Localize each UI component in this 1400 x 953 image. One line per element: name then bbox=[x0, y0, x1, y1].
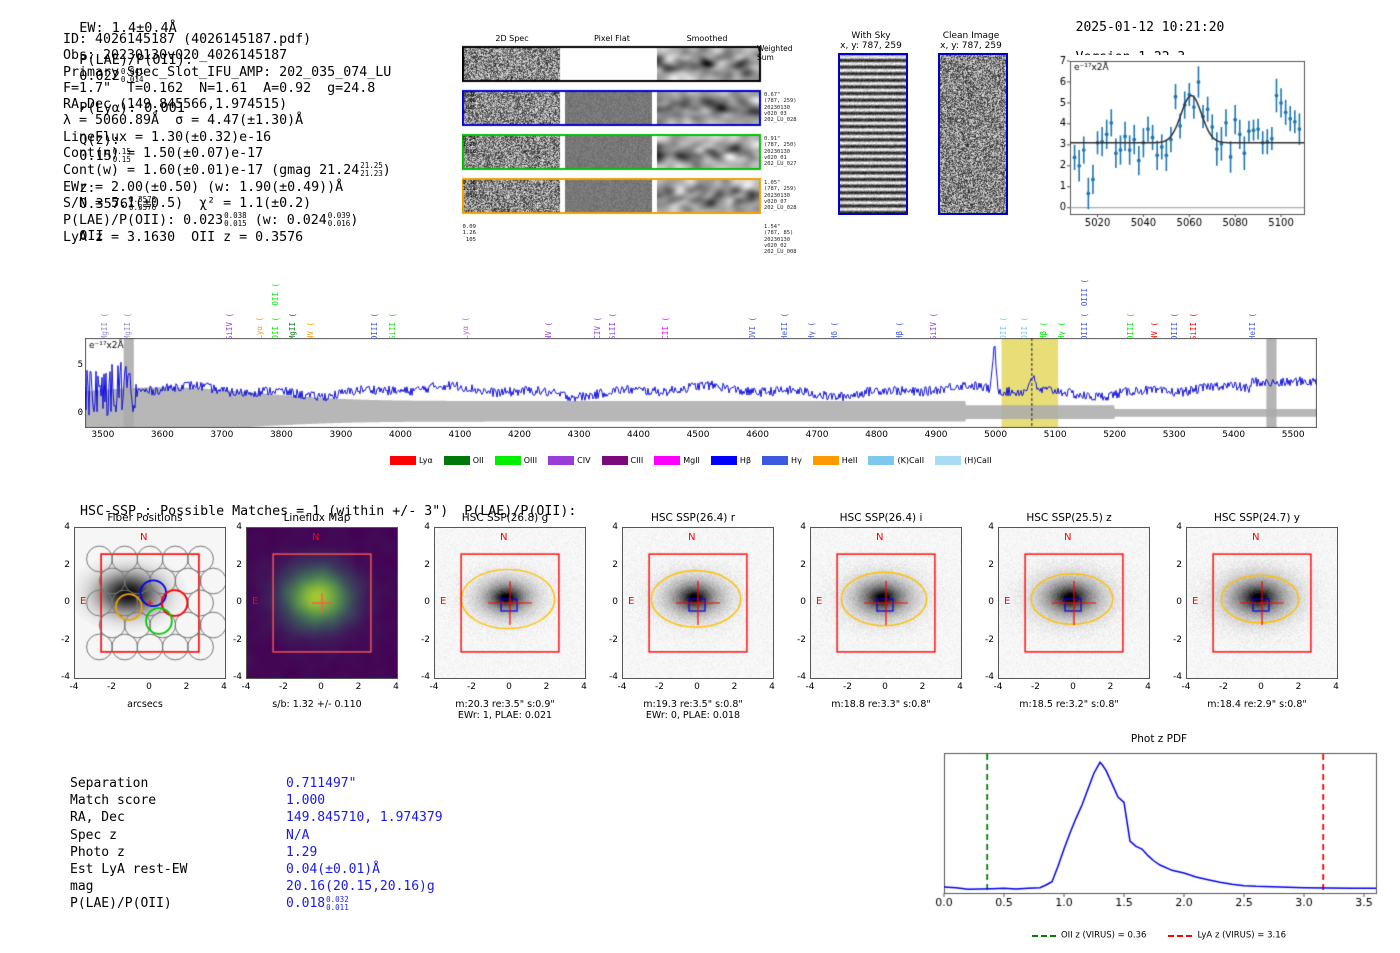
compass-north-label: N bbox=[140, 532, 147, 543]
emission-line-label: OII ( bbox=[1020, 317, 1029, 340]
cutout-y-tick: 4 bbox=[50, 522, 70, 532]
emission-line-label: OIII ( bbox=[1126, 313, 1135, 340]
cutout-x-tick: -2 bbox=[834, 682, 862, 692]
match-table-row: P(LAE)/P(OII)0.0180.0320.011 bbox=[70, 895, 443, 912]
timestamp: 2025-01-12 10:21:20 bbox=[1076, 20, 1225, 35]
cutout-x-tick: 0 bbox=[495, 682, 523, 692]
spectrum-x-tick: 4400 bbox=[613, 430, 665, 440]
cutout-y-tick: 2 bbox=[410, 560, 430, 570]
cutout-image[interactable] bbox=[1186, 527, 1338, 679]
phot-z-legend-label: LyA z (VIRUS) = 3.16 bbox=[1197, 931, 1286, 941]
legend-swatch bbox=[444, 456, 470, 465]
clean-image-subtitle: x, y: 787, 259 bbox=[926, 41, 1016, 51]
emission-line-label: OII ( bbox=[271, 317, 280, 340]
cutout-y-ticks: -4-2024 bbox=[50, 528, 72, 678]
info-line-ewr: EWr = 2.00(±0.50) (w: 1.90(±0.49))Å bbox=[63, 180, 391, 196]
cutout-panel[interactable]: Lineflux Map-4-2024-4-2024s/b: 1.32 +/- … bbox=[232, 512, 402, 710]
cutout-x-tick: -4 bbox=[60, 682, 88, 692]
legend-swatch bbox=[813, 456, 839, 465]
cutout-y-tick: -2 bbox=[1162, 635, 1182, 645]
match-table-row: Photo z1.29 bbox=[70, 844, 443, 861]
cutout-y-ticks: -4-2024 bbox=[974, 528, 996, 678]
source-info-block: ID: 4026145187 (4026145187.pdf) Obs: 202… bbox=[63, 32, 391, 246]
emission-line-label: OIII ( bbox=[1080, 313, 1089, 340]
emission-line-label: HeII ( bbox=[1248, 313, 1257, 340]
cutout-x-tick: -2 bbox=[270, 682, 298, 692]
cutout-caption-primary: m:18.5 re:3.2" s:0.8" bbox=[984, 699, 1154, 710]
spectrum-x-tick: 3500 bbox=[77, 430, 129, 440]
spectrum-x-tick: 4000 bbox=[374, 430, 426, 440]
spectrum-legend: LyαOIIOIIICIVCIIIMgIIHβHγHeII(K)CaII(H)C… bbox=[390, 450, 1030, 469]
info-line-contn: Cont(n) = 1.50(±0.07)e-17 bbox=[63, 146, 391, 162]
legend-swatch bbox=[548, 456, 574, 465]
cutout-x-tick: -4 bbox=[420, 682, 448, 692]
cutout-x-tick: -2 bbox=[646, 682, 674, 692]
legend-label: Hβ bbox=[740, 456, 751, 465]
spectrum-x-tick: 4300 bbox=[553, 430, 605, 440]
line-fit-canvas bbox=[1040, 55, 1310, 240]
cutout-panel-row: Fiber Positions-4-2024-4-2024arcsecsNELi… bbox=[0, 512, 1400, 727]
compass-east-label: E bbox=[252, 596, 258, 607]
cutout-x-tick: 2 bbox=[345, 682, 373, 692]
legend-swatch bbox=[935, 456, 961, 465]
cutout-title: HSC SSP(26.4) r bbox=[608, 512, 778, 524]
cutout-x-tick: 4 bbox=[946, 682, 974, 692]
match-table-key: RA, Dec bbox=[70, 809, 286, 826]
legend-swatch bbox=[602, 456, 628, 465]
info-line-redshifts: LyA z = 3.1630 OII z = 0.3576 bbox=[63, 230, 391, 246]
compass-north-label: N bbox=[312, 532, 319, 543]
cutout-y-tick: 0 bbox=[50, 597, 70, 607]
cutout-y-ticks: -4-2024 bbox=[1162, 528, 1184, 678]
cutout-y-tick: -4 bbox=[786, 672, 806, 682]
cutout-title: HSC SSP(25.5) z bbox=[984, 512, 1154, 524]
spectrum-x-tick: 4500 bbox=[672, 430, 724, 440]
cutout-image[interactable] bbox=[810, 527, 962, 679]
spectrum-y-axis-ticks: 05 bbox=[63, 338, 83, 428]
match-detail-table: Separation0.711497"Match score1.000RA, D… bbox=[70, 775, 443, 913]
cutout-x-tick: 4 bbox=[758, 682, 786, 692]
match-table-value: 0.018 bbox=[286, 896, 325, 911]
info-line-lineflux: LineFlux = 1.30(±0.32)e-16 bbox=[63, 130, 391, 146]
cutout-x-tick: 4 bbox=[570, 682, 598, 692]
spec2d-block: 2D Spec Pixel Flat Smoothed bbox=[462, 34, 762, 250]
spectrum-x-tick: 3800 bbox=[255, 430, 307, 440]
cutout-y-tick: 4 bbox=[598, 522, 618, 532]
cutout-x-tick: -4 bbox=[984, 682, 1012, 692]
cutout-title: Fiber Positions bbox=[60, 512, 230, 524]
cutout-image[interactable] bbox=[998, 527, 1150, 679]
legend-label: OII bbox=[473, 456, 484, 465]
cutout-y-tick: -4 bbox=[1162, 672, 1182, 682]
cutout-y-tick: -4 bbox=[598, 672, 618, 682]
cutout-y-tick: -4 bbox=[222, 672, 242, 682]
emission-line-label: Lyα ( bbox=[461, 317, 470, 340]
match-table-value: 1.29 bbox=[286, 845, 317, 860]
compass-north-label: N bbox=[1252, 532, 1259, 543]
info-line-lambda: λ = 5060.89Å σ = 4.47(±1.30)Å bbox=[63, 113, 391, 129]
spectrum-x-tick: 5000 bbox=[970, 430, 1022, 440]
match-table-key: Est LyA rest-EW bbox=[70, 861, 286, 878]
emission-line-label: Lyα ( bbox=[255, 317, 264, 340]
with-sky-panel: With Sky x, y: 787, 259 bbox=[826, 31, 916, 219]
legend-label: (H)CaII bbox=[964, 456, 991, 465]
spec2d-row-right-label: 1.54"(787, 85)20230130v020_02202_LU_008 bbox=[764, 224, 812, 255]
emission-line-label: SiIV ( bbox=[225, 313, 234, 340]
cutout-x-tick: 4 bbox=[382, 682, 410, 692]
cutout-x-tick: 2 bbox=[1285, 682, 1313, 692]
match-table-key: P(LAE)/P(OII) bbox=[70, 895, 286, 912]
cutout-image[interactable] bbox=[622, 527, 774, 679]
weighted-sum-label: WeightedSum bbox=[757, 44, 793, 62]
full-spectrum-canvas bbox=[85, 338, 1317, 428]
cutout-x-tick: 0 bbox=[1059, 682, 1087, 692]
emission-line-label: CIV ( bbox=[593, 317, 602, 340]
cutout-panel[interactable]: Fiber Positions-4-2024-4-2024arcsecsNE bbox=[60, 512, 230, 710]
legend-label: Lyα bbox=[419, 456, 433, 465]
cutout-y-tick: -2 bbox=[50, 635, 70, 645]
cutout-caption-secondary: EWr: 0, PLAE: 0.018 bbox=[608, 710, 778, 721]
cutout-x-tick: -2 bbox=[1022, 682, 1050, 692]
compass-north-label: N bbox=[500, 532, 507, 543]
emission-line-label: MgII ( bbox=[288, 313, 297, 340]
line-fit-plot bbox=[1040, 55, 1310, 240]
info-line-radec: RA,Dec (149.845566,1.974515) bbox=[63, 97, 391, 113]
spectrum-x-tick: 3700 bbox=[196, 430, 248, 440]
info-plae-errors: 0.0380.015 bbox=[224, 212, 247, 228]
legend-label: CIV bbox=[577, 456, 590, 465]
spectrum-x-tick: 4200 bbox=[493, 430, 545, 440]
cutout-y-tick: -2 bbox=[786, 635, 806, 645]
spec2d-row-left-label: 0.261.05085 bbox=[452, 92, 476, 111]
cutout-y-tick: -4 bbox=[410, 672, 430, 682]
cutout-x-tick: 2 bbox=[721, 682, 749, 692]
phot-z-pdf-plot: Phot z PDF OII z (VIRUS) = 0.36LyA z (VI… bbox=[928, 733, 1390, 948]
cutout-y-tick: 0 bbox=[222, 597, 242, 607]
cutout-x-tick: 0 bbox=[871, 682, 899, 692]
compass-east-label: E bbox=[1192, 596, 1198, 607]
cutout-x-tick: 0 bbox=[307, 682, 335, 692]
cutout-image[interactable] bbox=[246, 527, 398, 679]
emission-line-label: OVI ( bbox=[748, 317, 757, 340]
info-line-sn: S/N = 5.1(±0.5) χ² = 1.1(±0.2) bbox=[63, 196, 391, 212]
cutout-x-tick: -4 bbox=[232, 682, 260, 692]
cutout-y-tick: 2 bbox=[786, 560, 806, 570]
with-sky-title: With Sky bbox=[826, 31, 916, 41]
spec2d-col-title-pixelflat: Pixel Flat bbox=[562, 34, 662, 43]
legend-label: OIII bbox=[524, 456, 537, 465]
emission-line-labels: MgII (MgII (SiIV (Lyα (OII (OII (MgII (N… bbox=[85, 272, 1317, 340]
cutout-y-tick: 0 bbox=[598, 597, 618, 607]
cutout-y-tick: 4 bbox=[786, 522, 806, 532]
cutout-x-tick: -2 bbox=[98, 682, 126, 692]
cutout-x-tick: 0 bbox=[683, 682, 711, 692]
legend-swatch bbox=[711, 456, 737, 465]
compass-east-label: E bbox=[816, 596, 822, 607]
emission-line-label: SiII ( bbox=[608, 313, 617, 340]
emission-line-label: SiIV ( bbox=[929, 313, 938, 340]
cutout-title: HSC SSP(24.7) y bbox=[1172, 512, 1342, 524]
cutout-y-ticks: -4-2024 bbox=[598, 528, 620, 678]
cutout-caption-primary: m:20.3 re:3.5" s:0.9" bbox=[420, 699, 590, 710]
legend-label: Hγ bbox=[791, 456, 802, 465]
match-table-key: Spec z bbox=[70, 827, 286, 844]
cutout-x-tick: -4 bbox=[1172, 682, 1200, 692]
match-table-value: N/A bbox=[286, 828, 309, 843]
spec2d-row-right-label: 0.91"(787, 250)20230130v020_01202_LU_027 bbox=[764, 136, 812, 167]
cutout-y-tick: -2 bbox=[222, 635, 242, 645]
cutout-y-tick: -4 bbox=[974, 672, 994, 682]
spec2d-row-right-label: 1.05"(787, 259)20230130v020_07202_LU_028 bbox=[764, 180, 812, 211]
cutout-caption-primary: m:18.4 re:2.9" s:0.8" bbox=[1172, 699, 1342, 710]
clean-image-canvas bbox=[938, 53, 1008, 215]
clean-image-panel: Clean Image x, y: 787, 259 bbox=[926, 31, 1016, 219]
spectrum-x-tick: 4600 bbox=[732, 430, 784, 440]
cutout-panel[interactable]: HSC SSP(26.4) i-4-2024-4-2024m:18.8 re:3… bbox=[796, 512, 966, 710]
cutout-caption-primary: m:18.8 re:3.3" s:0.8" bbox=[796, 699, 966, 710]
match-table-value: 0.711497" bbox=[286, 776, 356, 791]
match-table-row: Separation0.711497" bbox=[70, 775, 443, 792]
spectrum-x-tick: 4800 bbox=[851, 430, 903, 440]
cutout-y-tick: -2 bbox=[410, 635, 430, 645]
spec2d-row-left-label: 0.091.26105 bbox=[452, 224, 476, 243]
match-table-value: 149.845710, 1.974379 bbox=[286, 810, 443, 825]
spectrum-y-tick: 0 bbox=[63, 408, 83, 418]
emission-line-label: OIII ( bbox=[1080, 279, 1089, 306]
emission-line-label: OIII ( bbox=[1170, 313, 1179, 340]
cutout-y-tick: 2 bbox=[222, 560, 242, 570]
match-table-key: mag bbox=[70, 878, 286, 895]
match-table-row: Spec zN/A bbox=[70, 827, 443, 844]
spectrum-x-tick: 3600 bbox=[136, 430, 188, 440]
compass-north-label: N bbox=[688, 532, 695, 543]
cutout-caption-primary: s/b: 1.32 +/- 0.110 bbox=[232, 699, 402, 710]
spectrum-x-tick: 4900 bbox=[910, 430, 962, 440]
match-table-row: mag20.16(20.15,20.16)g bbox=[70, 878, 443, 895]
emission-line-label: MgII ( bbox=[123, 313, 132, 340]
legend-swatch bbox=[390, 456, 416, 465]
cutout-x-tick: 2 bbox=[173, 682, 201, 692]
with-sky-subtitle: x, y: 787, 259 bbox=[826, 41, 916, 51]
match-table-key: Photo z bbox=[70, 844, 286, 861]
compass-north-label: N bbox=[1064, 532, 1071, 543]
cutout-x-tick: -4 bbox=[608, 682, 636, 692]
spectrum-x-tick: 3900 bbox=[315, 430, 367, 440]
cutout-y-tick: -2 bbox=[974, 635, 994, 645]
cutout-x-tick: 4 bbox=[1134, 682, 1162, 692]
spec2d-row-left-label: 0.241.28086 bbox=[452, 136, 476, 155]
cutout-y-tick: 2 bbox=[974, 560, 994, 570]
cutout-y-ticks: -4-2024 bbox=[222, 528, 244, 678]
cutout-y-tick: 0 bbox=[786, 597, 806, 607]
match-table-key: Match score bbox=[70, 792, 286, 809]
cutout-y-tick: 2 bbox=[598, 560, 618, 570]
match-table-errors: 0.0320.011 bbox=[326, 896, 349, 912]
spec2d-row-right-label: 0.67"(787, 259)20230130v020_03202_LU_028 bbox=[764, 92, 812, 123]
match-table-key: Separation bbox=[70, 775, 286, 792]
cutout-panel[interactable]: HSC SSP(25.5) z-4-2024-4-2024m:18.5 re:3… bbox=[984, 512, 1154, 710]
cutout-y-tick: 4 bbox=[974, 522, 994, 532]
spectrum-x-tick: 5300 bbox=[1148, 430, 1200, 440]
spectrum-x-tick: 4700 bbox=[791, 430, 843, 440]
phot-z-canvas bbox=[928, 747, 1390, 919]
with-sky-image bbox=[838, 53, 908, 215]
info-line-contw: Cont(w) = 1.60(±0.01)e-17 (gmag 21.2421.… bbox=[63, 162, 391, 179]
spectrum-x-axis-ticks: 3500360037003800390040004100420043004400… bbox=[85, 430, 1317, 444]
match-table-value: 0.04(±0.01)Å bbox=[286, 862, 380, 877]
spectrum-x-tick: 5400 bbox=[1208, 430, 1260, 440]
phot-z-title: Phot z PDF bbox=[928, 733, 1390, 745]
cutout-y-tick: 0 bbox=[410, 597, 430, 607]
legend-label: MgII bbox=[683, 456, 700, 465]
spectrum-x-tick: 5500 bbox=[1267, 430, 1319, 440]
emission-line-label: MgII ( bbox=[100, 313, 109, 340]
cutout-y-tick: 2 bbox=[1162, 560, 1182, 570]
legend-label: CIII bbox=[631, 456, 644, 465]
full-spectrum-plot: MgII (MgII (SiIV (Lyα (OII (OII (MgII (N… bbox=[85, 272, 1317, 472]
info-line-obs: Obs: 20230130v020_4026145187 bbox=[63, 48, 391, 64]
phot-z-legend-swatch bbox=[1032, 935, 1056, 937]
emission-line-label: OIII ( bbox=[370, 313, 379, 340]
cutout-y-tick: -4 bbox=[50, 672, 70, 682]
cutout-x-tick: 2 bbox=[1097, 682, 1125, 692]
emission-line-label: SiII ( bbox=[388, 313, 397, 340]
spectrum-x-tick: 5100 bbox=[1029, 430, 1081, 440]
compass-east-label: E bbox=[440, 596, 446, 607]
match-table-row: Match score1.000 bbox=[70, 792, 443, 809]
legend-swatch bbox=[495, 456, 521, 465]
cutout-x-tick: 2 bbox=[909, 682, 937, 692]
spec2d-row-left-label: 0.161.22085 bbox=[452, 180, 476, 199]
spec2d-canvas bbox=[462, 44, 762, 250]
legend-label: HeII bbox=[842, 456, 858, 465]
cutout-y-ticks: -4-2024 bbox=[786, 528, 808, 678]
cutout-x-tick: 0 bbox=[135, 682, 163, 692]
info-plae-w-errors: 0.0390.016 bbox=[328, 212, 351, 228]
cutout-y-tick: -2 bbox=[598, 635, 618, 645]
match-table-value: 20.16(20.15,20.16)g bbox=[286, 879, 435, 894]
cutout-x-tick: 4 bbox=[1322, 682, 1350, 692]
compass-east-label: E bbox=[80, 596, 86, 607]
info-line-params: F=1.7" T=0.162 N=1.61 A=0.92 g=24.8 bbox=[63, 81, 391, 97]
info-line-id: ID: 4026145187 (4026145187.pdf) bbox=[63, 32, 391, 48]
compass-east-label: E bbox=[628, 596, 634, 607]
cutout-y-ticks: -4-2024 bbox=[410, 528, 432, 678]
phot-z-legend-label: OII z (VIRUS) = 0.36 bbox=[1061, 931, 1147, 941]
compass-north-label: N bbox=[876, 532, 883, 543]
spec2d-col-title-2dspec: 2D Spec bbox=[462, 34, 562, 43]
cutout-y-tick: 4 bbox=[222, 522, 242, 532]
match-table-row: Est LyA rest-EW0.04(±0.01)Å bbox=[70, 861, 443, 878]
spectrum-y-tick: 5 bbox=[63, 360, 83, 370]
emission-line-label: OII ( bbox=[999, 317, 1008, 340]
match-table-row: RA, Dec149.845710, 1.974379 bbox=[70, 809, 443, 826]
cutout-y-tick: 2 bbox=[50, 560, 70, 570]
cutout-image[interactable] bbox=[434, 527, 586, 679]
cutout-caption-secondary: EWr: 1, PLAE: 0.021 bbox=[420, 710, 590, 721]
cutout-title: Lineflux Map bbox=[232, 512, 402, 524]
cutout-x-tick: 2 bbox=[533, 682, 561, 692]
cutout-x-tick: 0 bbox=[1247, 682, 1275, 692]
info-gmag-errors: 21.2521.23 bbox=[360, 162, 383, 178]
cutout-x-tick: -4 bbox=[796, 682, 824, 692]
phot-z-legend-swatch bbox=[1168, 935, 1192, 937]
cutout-caption-primary: arcsecs bbox=[60, 699, 230, 710]
cutout-panel[interactable]: HSC SSP(26.8) g-4-2024-4-2024m:20.3 re:3… bbox=[420, 512, 590, 721]
emission-line-label: OII ( bbox=[271, 283, 280, 306]
legend-label: (K)CaII bbox=[897, 456, 924, 465]
compass-east-label: E bbox=[1004, 596, 1010, 607]
spectrum-x-tick: 4100 bbox=[434, 430, 486, 440]
legend-swatch bbox=[762, 456, 788, 465]
match-table-value: 1.000 bbox=[286, 793, 325, 808]
legend-swatch bbox=[868, 456, 894, 465]
cutout-y-tick: 4 bbox=[1162, 522, 1182, 532]
cutout-y-tick: 0 bbox=[974, 597, 994, 607]
info-line-slot: Primary Spec_Slot_IFU_AMP: 202_035_074_L… bbox=[63, 65, 391, 81]
spectrum-x-tick: 5200 bbox=[1089, 430, 1141, 440]
emission-line-label: CII ( bbox=[661, 317, 670, 340]
cutout-y-tick: 4 bbox=[410, 522, 430, 532]
emission-line-label: SiII ( bbox=[1189, 313, 1198, 340]
info-line-plae: P(LAE)/P(OII): 0.0230.0380.015 (w: 0.024… bbox=[63, 212, 391, 229]
cutout-title: HSC SSP(26.8) g bbox=[420, 512, 590, 524]
cutout-x-tick: -2 bbox=[1210, 682, 1238, 692]
cutout-title: HSC SSP(26.4) i bbox=[796, 512, 966, 524]
phot-z-legend: OII z (VIRUS) = 0.36LyA z (VIRUS) = 3.16 bbox=[928, 925, 1390, 944]
spec2d-col-title-smoothed: Smoothed bbox=[657, 34, 757, 43]
cutout-panel[interactable]: HSC SSP(24.7) y-4-2024-4-2024m:18.4 re:2… bbox=[1172, 512, 1342, 710]
cutout-image[interactable] bbox=[74, 527, 226, 679]
legend-swatch bbox=[654, 456, 680, 465]
cutout-panel[interactable]: HSC SSP(26.4) r-4-2024-4-2024m:19.3 re:3… bbox=[608, 512, 778, 721]
cutout-caption-primary: m:19.3 re:3.5" s:0.8" bbox=[608, 699, 778, 710]
clean-image-title: Clean Image bbox=[926, 31, 1016, 41]
emission-line-label: HeII ( bbox=[780, 313, 789, 340]
cutout-y-tick: 0 bbox=[1162, 597, 1182, 607]
cutout-x-tick: -2 bbox=[458, 682, 486, 692]
